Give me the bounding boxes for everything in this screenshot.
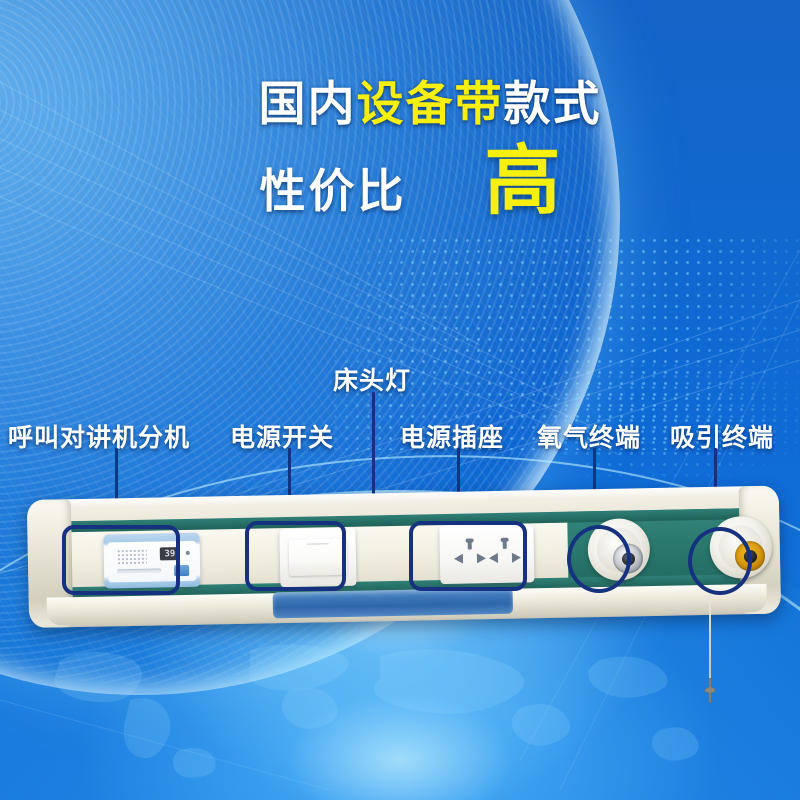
highlight-box-power-socket: [409, 521, 527, 591]
highlight-box-power-switch: [245, 521, 346, 591]
pull-cord-line: [709, 589, 711, 683]
callout-label-power-socket: 电源插座: [400, 418, 504, 454]
headline-segment-3: 款式: [504, 78, 602, 132]
headline-block: 国内 设备带 款式 性价比 高: [0, 78, 800, 221]
headline-segment-2: 设备带: [357, 78, 504, 132]
callout-label-oxygen-outlet: 氧气终端: [537, 418, 641, 454]
headline-subline-left: 性价比: [260, 155, 407, 221]
callout-label-suction-outlet: 吸引终端: [670, 418, 774, 454]
intercom-indicator-led: [186, 551, 190, 555]
bed-lamp-diffuser[interactable]: [273, 588, 513, 619]
pull-cord-handle-icon[interactable]: [700, 678, 720, 704]
headline-subline-right: 高: [485, 146, 561, 216]
callout-label-intercom: 呼叫对讲机分机: [8, 418, 190, 454]
callout-label-power-switch: 电源开关: [230, 418, 334, 454]
poster-canvas: 国内 设备带 款式 性价比 高 呼叫对讲机分机 电源开关 床头灯 电源插座 氧气…: [0, 0, 800, 800]
highlight-circle-suction: [688, 527, 752, 595]
highlight-circle-oxygen: [567, 525, 631, 593]
highlight-box-intercom: [62, 525, 180, 595]
headline-segment-1: 国内: [259, 78, 357, 132]
